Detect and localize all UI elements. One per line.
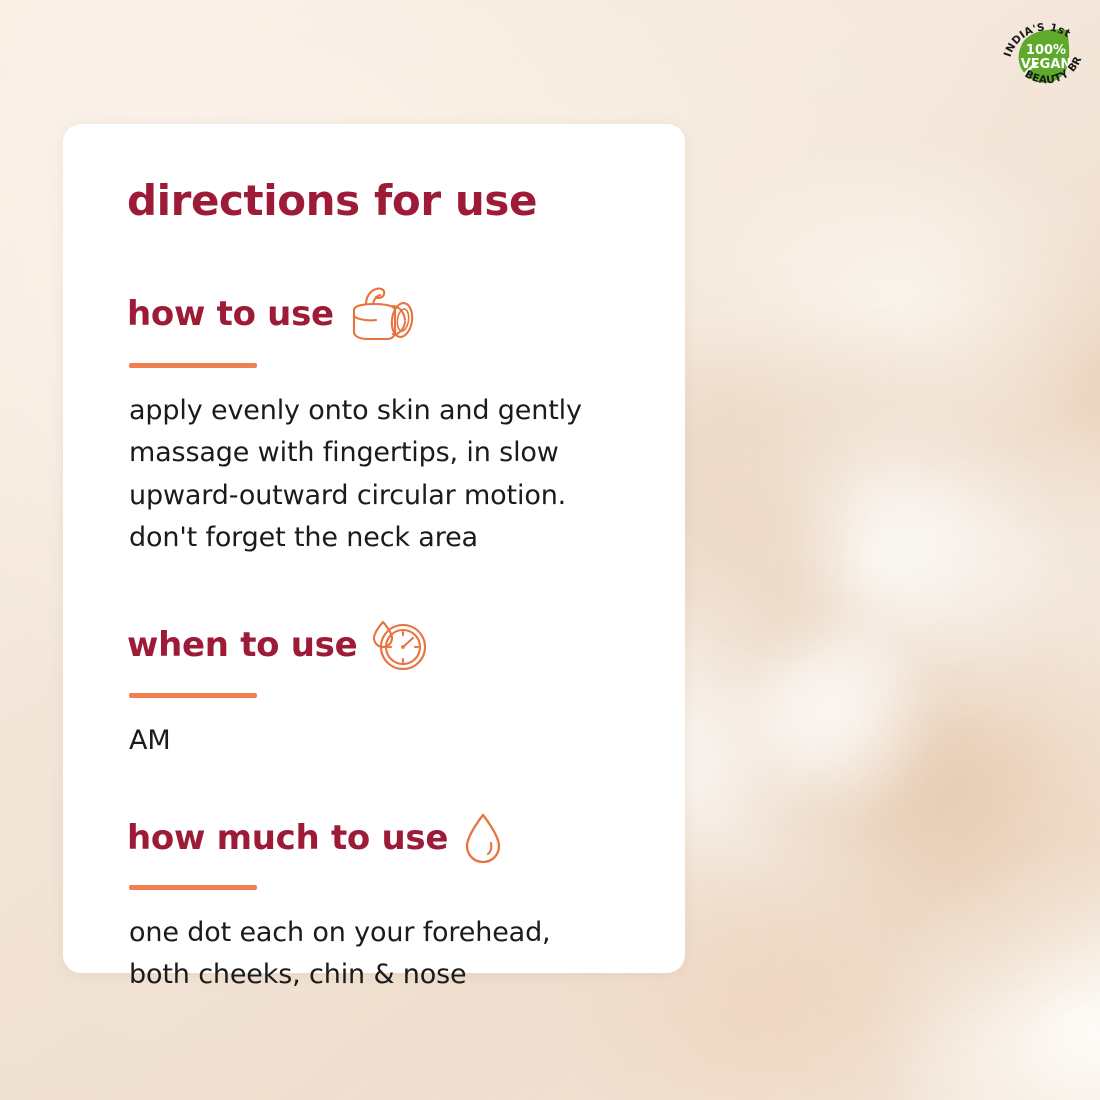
section-title-when-to-use: when to use [127, 628, 357, 664]
section-how-much-to-use: how much to use one dot each on your for… [127, 810, 685, 997]
section-rule [129, 693, 257, 698]
spacer [127, 762, 685, 810]
badge-leaf-line1: 100% [1026, 43, 1066, 58]
section-rule [129, 885, 257, 890]
poster-canvas: 100% VEGAN INDIA'S 1st BEAUTY BRAND dire… [0, 0, 1100, 1100]
directions-card: directions for use how to use [63, 124, 685, 973]
cream-jar-icon [346, 284, 416, 346]
page-title: directions for use [127, 180, 685, 222]
section-header: how to use [127, 284, 685, 346]
section-body-how-much-to-use: one dot each on your forehead, both chee… [129, 912, 685, 997]
section-title-how-much-to-use: how much to use [127, 821, 448, 857]
section-how-to-use: how to use [127, 284, 685, 560]
section-rule [129, 363, 257, 368]
section-when-to-use: when to use [127, 616, 685, 762]
section-body-how-to-use: apply evenly onto skin and gently massag… [129, 390, 685, 560]
droplet-icon [460, 810, 506, 868]
vegan-badge: 100% VEGAN INDIA'S 1st BEAUTY BRAND [996, 8, 1092, 104]
spacer [127, 560, 685, 616]
section-header: when to use [127, 616, 685, 676]
section-header: how much to use [127, 810, 685, 868]
clock-droplet-icon [369, 616, 433, 676]
section-body-when-to-use: AM [129, 720, 685, 762]
section-title-how-to-use: how to use [127, 297, 334, 333]
